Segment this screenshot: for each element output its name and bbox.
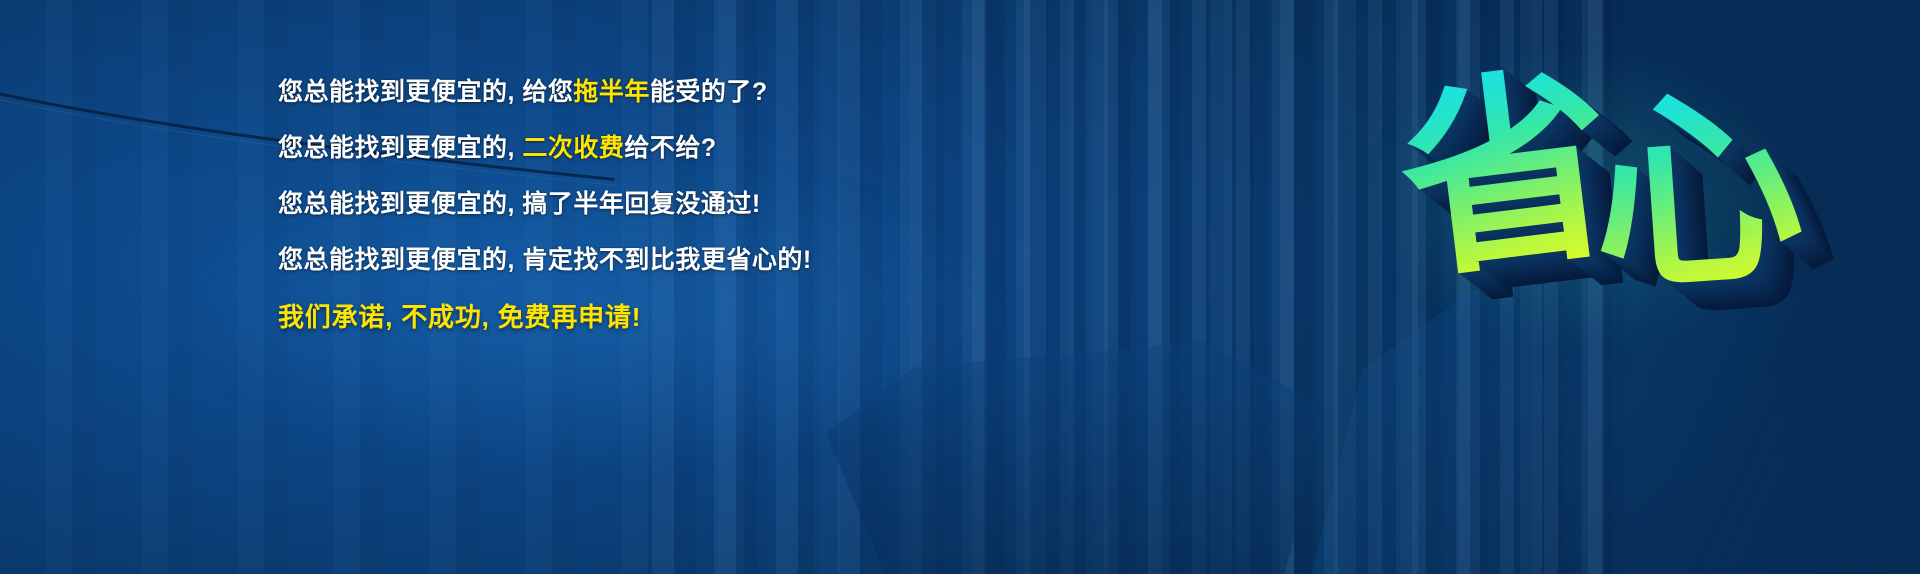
promo-banner: 您总能找到更便宜的, 给您拖半年能受的了? 您总能找到更便宜的, 二次收费给不给… [0, 0, 1920, 574]
copy-line-2-prefix: 您总能找到更便宜的, [278, 134, 522, 162]
copy-line-2-highlight: 二次收费 [522, 134, 624, 162]
copy-line-2-suffix: 给不给? [624, 134, 716, 162]
copy-promise-line: 我们承诺, 不成功, 免费再申请! [278, 304, 918, 330]
copy-line-1-suffix: 能受的了? [650, 78, 768, 106]
copy-line-2: 您总能找到更便宜的, 二次收费给不给? [278, 136, 918, 161]
hero-char-xin-face: 心 [1585, 81, 1809, 305]
hero-characters: 省 省 心 心 [1402, 70, 1802, 298]
marketing-copy-block: 您总能找到更便宜的, 给您拖半年能受的了? 您总能找到更便宜的, 二次收费给不给… [278, 80, 918, 330]
copy-line-3: 您总能找到更便宜的, 搞了半年回复没通过! [278, 192, 918, 217]
copy-line-1: 您总能找到更便宜的, 给您拖半年能受的了? [278, 80, 918, 105]
copy-line-1-prefix: 您总能找到更便宜的, 给您 [278, 78, 573, 106]
hero-char-xin: 心 心 [1585, 81, 1809, 305]
copy-line-4: 您总能找到更便宜的, 肯定找不到比我更省心的! [278, 248, 918, 273]
copy-line-1-highlight: 拖半年 [573, 78, 650, 106]
